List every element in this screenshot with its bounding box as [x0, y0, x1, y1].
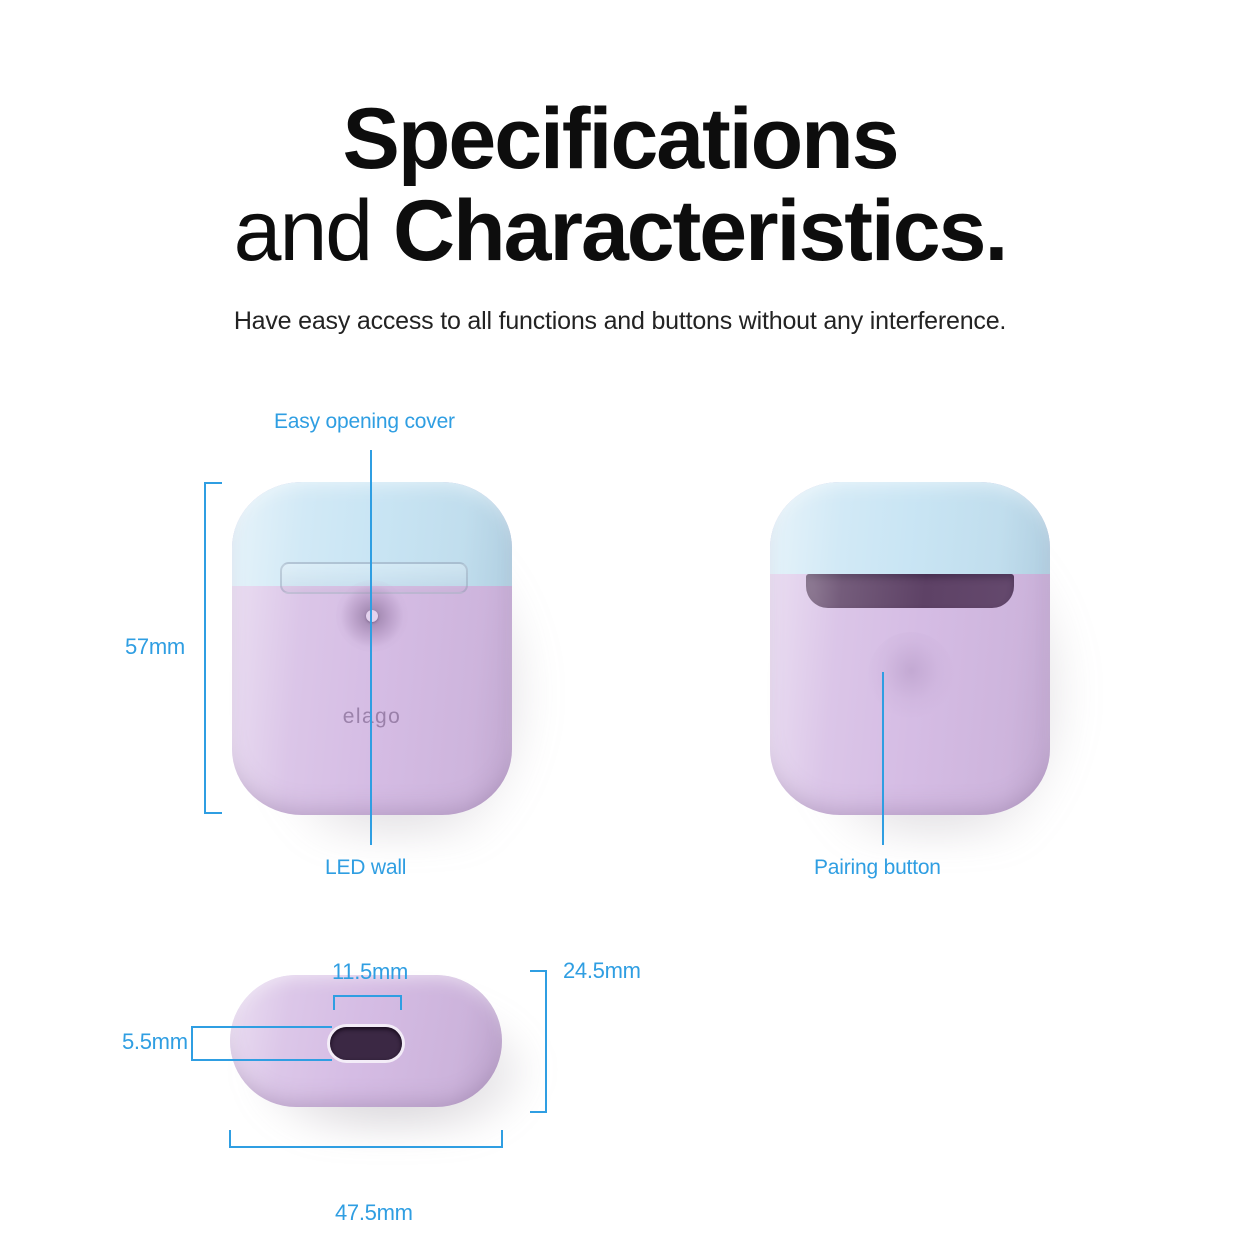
page-title-emphasis: Characteristics.	[393, 183, 1006, 279]
page-subtitle: Have easy access to all functions and bu…	[0, 307, 1240, 336]
brand-wordmark: elago	[232, 705, 512, 729]
front-case-body: elago	[232, 482, 512, 815]
bracket-depth-24-5mm	[530, 971, 546, 1112]
dimension-label-width: 47.5mm	[335, 1200, 413, 1226]
bracket-height-57mm	[205, 483, 222, 813]
dimension-label-depth: 24.5mm	[563, 958, 641, 984]
bracket-port-height-5-5mm	[192, 1027, 205, 1060]
callout-pairing-button: Pairing button	[814, 856, 941, 880]
page-title-line-2: and Characteristics.	[0, 188, 1240, 276]
charging-port	[330, 1027, 402, 1060]
callout-easy-opening-cover: Easy opening cover	[274, 410, 455, 434]
led-indicator-hole	[366, 610, 378, 622]
dimension-label-height: 57mm	[125, 634, 185, 660]
back-case-body	[770, 482, 1050, 815]
dimension-label-port-height: 5.5mm	[122, 1029, 188, 1055]
pairing-button-dimple	[868, 632, 954, 718]
callout-led-wall: LED wall	[325, 856, 406, 880]
page-title-line-1: Specifications	[0, 96, 1240, 184]
dimension-label-port-width: 11.5mm	[332, 959, 408, 985]
page-title-prefix: and	[234, 183, 393, 279]
page-header: Specifications and Characteristics. Have…	[0, 96, 1240, 336]
